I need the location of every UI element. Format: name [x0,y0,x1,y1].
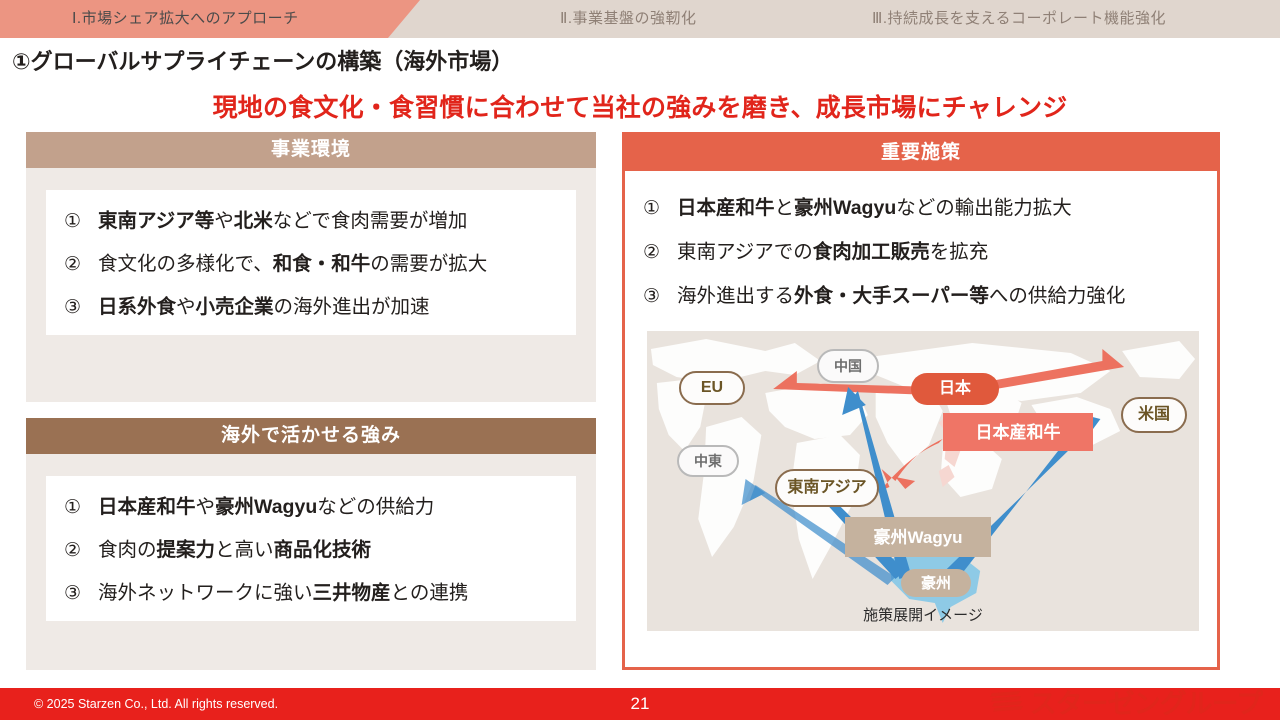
company-logo: スターゼングループ [990,682,1262,720]
map-label-japan-wagyu[interactable]: 日本産和牛 [943,413,1093,451]
map-label-china[interactable]: 中国 [817,349,879,383]
list-item: ③ 日系外食や小売企業の海外進出が加速 [64,290,558,319]
list-item-label: 食肉の提案力と高い商品化技術 [98,533,371,562]
list-item: ③ 海外ネットワークに強い三井物産との連携 [64,576,558,605]
list-item-label: 海外進出する外食・大手スーパー等への供給力強化 [677,279,1125,308]
list-marker: ① [643,197,677,220]
list-marker: ③ [64,582,98,605]
map-diagram: EU 中国 中東 東南アジア 日本 米国 豪州 日本産和牛 豪州Wagyu 施策… [647,331,1199,631]
panel-title-key-measures: 重要施策 [625,135,1217,171]
panel-title-overseas-strengths: 海外で活かせる強み [26,418,596,454]
list-item-label: 食文化の多様化で、和食・和牛の需要が拡大 [98,247,487,276]
map-label-japan[interactable]: 日本 [911,373,999,405]
slide: Ⅰ.市場シェア拡大へのアプローチ Ⅱ.事業基盤の強靭化 Ⅲ.持続成長を支えるコー… [0,0,1280,720]
list-item-label: 日本産和牛と豪州Wagyuなどの輸出能力拡大 [677,191,1072,220]
tab-business-foundation[interactable]: Ⅱ.事業基盤の強靭化 [560,0,697,38]
tab-market-share-approach[interactable]: Ⅰ.市場シェア拡大へのアプローチ [72,0,299,38]
list-item-label: 日系外食や小売企業の海外進出が加速 [98,290,430,319]
list-marker: ② [64,253,98,276]
map-label-southeast-asia[interactable]: 東南アジア [775,469,879,507]
list-item: ① 日本産和牛と豪州Wagyuなどの輸出能力拡大 [643,191,1201,220]
list-item: ① 東南アジア等や北米などで食肉需要が増加 [64,204,558,233]
list-item: ① 日本産和牛や豪州Wagyuなどの供給力 [64,490,558,519]
map-label-aus-wagyu[interactable]: 豪州Wagyu [845,517,991,557]
headline-message: 現地の食文化・食習慣に合わせて当社の強みを磨き、成長市場にチャレンジ [0,88,1280,124]
list-overseas-strengths: ① 日本産和牛や豪州Wagyuなどの供給力 ② 食肉の提案力と高い商品化技術 ③… [46,476,576,621]
list-item: ② 東南アジアでの食肉加工販売を拡充 [643,235,1201,264]
panel-body-overseas-strengths: ① 日本産和牛や豪州Wagyuなどの供給力 ② 食肉の提案力と高い商品化技術 ③… [26,454,596,670]
list-item: ③ 海外進出する外食・大手スーパー等への供給力強化 [643,279,1201,308]
list-item-label: 海外ネットワークに強い三井物産との連携 [98,576,468,605]
panel-key-measures: 重要施策 ① 日本産和牛と豪州Wagyuなどの輸出能力拡大 ② 東南アジアでの食… [622,132,1220,670]
list-marker: ① [64,496,98,519]
list-key-measures: ① 日本産和牛と豪州Wagyuなどの輸出能力拡大 ② 東南アジアでの食肉加工販売… [625,171,1217,327]
panel-body-business-environment: ① 東南アジア等や北米などで食肉需要が増加 ② 食文化の多様化で、和食・和牛の需… [26,168,596,402]
list-marker: ② [643,241,677,264]
panel-overseas-strengths: 海外で活かせる強み ① 日本産和牛や豪州Wagyuなどの供給力 ② 食肉の提案力… [26,418,596,670]
map-caption: 施策展開イメージ [647,604,1199,625]
panel-title-business-environment: 事業環境 [26,132,596,168]
list-marker: ③ [64,296,98,319]
list-business-environment: ① 東南アジア等や北米などで食肉需要が増加 ② 食文化の多様化で、和食・和牛の需… [46,190,576,335]
list-item: ② 食文化の多様化で、和食・和牛の需要が拡大 [64,247,558,276]
list-item-label: 東南アジアでの食肉加工販売を拡充 [677,235,988,264]
starzen-logo-mark [990,689,1024,715]
list-item: ② 食肉の提案力と高い商品化技術 [64,533,558,562]
panel-business-environment: 事業環境 ① 東南アジア等や北米などで食肉需要が増加 ② 食文化の多様化で、和食… [26,132,596,402]
map-label-middle-east[interactable]: 中東 [677,445,739,477]
map-label-australia[interactable]: 豪州 [901,569,971,597]
list-item-label: 東南アジア等や北米などで食肉需要が増加 [98,204,467,233]
list-item-label: 日本産和牛や豪州Wagyuなどの供給力 [98,490,434,519]
logo-text: スターゼングループ [1030,682,1262,720]
list-marker: ① [64,210,98,233]
list-marker: ② [64,539,98,562]
list-marker: ③ [643,285,677,308]
page-title: ①グローバルサプライチェーンの構築（海外市場） [12,44,513,76]
map-label-usa[interactable]: 米国 [1121,397,1187,433]
world-map: EU 中国 中東 東南アジア 日本 米国 豪州 日本産和牛 豪州Wagyu [647,331,1199,631]
tab-corporate-function[interactable]: Ⅲ.持続成長を支えるコーポレート機能強化 [872,0,1166,38]
map-label-eu[interactable]: EU [679,371,745,405]
